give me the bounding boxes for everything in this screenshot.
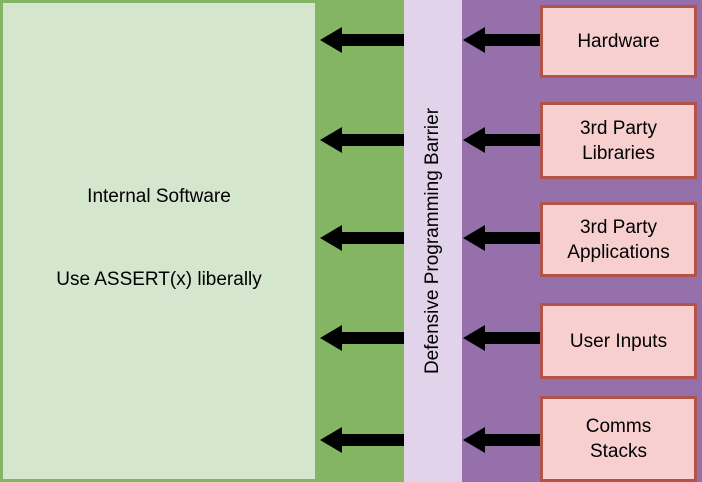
arrow-hardware-outer (463, 27, 541, 53)
external-source-3rd-party-applications[interactable]: 3rd PartyApplications (540, 202, 697, 277)
internal-software-title: Internal Software (0, 185, 318, 209)
external-source-3rd-party-libraries[interactable]: 3rd PartyLibraries (540, 102, 697, 179)
arrow-libraries-outer (463, 127, 541, 153)
arrow-applications-inner (320, 225, 404, 251)
external-source-hardware[interactable]: Hardware (540, 5, 697, 78)
arrow-libraries-inner (320, 127, 404, 153)
barrier-label-wrapper: Defensive Programming Barrier (404, 0, 462, 482)
arrow-comms-outer (463, 427, 541, 453)
external-source-comms-stacks[interactable]: CommsStacks (540, 396, 697, 482)
external-source-label: 3rd PartyApplications (567, 215, 669, 265)
diagram-canvas: Internal Software Use ASSERT(x) liberall… (0, 0, 702, 482)
internal-software-subtitle: Use ASSERT(x) liberally (0, 268, 318, 292)
arrow-applications-outer (463, 225, 541, 251)
external-source-label: 3rd PartyLibraries (580, 116, 657, 166)
arrow-userinputs-outer (463, 325, 541, 351)
internal-software-region (0, 0, 318, 482)
external-source-label: Hardware (577, 29, 659, 54)
arrow-hardware-inner (320, 27, 404, 53)
external-source-user-inputs[interactable]: User Inputs (540, 303, 697, 379)
arrow-comms-inner (320, 427, 404, 453)
external-source-label: User Inputs (570, 329, 667, 354)
arrow-userinputs-inner (320, 325, 404, 351)
external-source-label: CommsStacks (586, 414, 651, 464)
barrier-label: Defensive Programming Barrier (422, 108, 444, 374)
